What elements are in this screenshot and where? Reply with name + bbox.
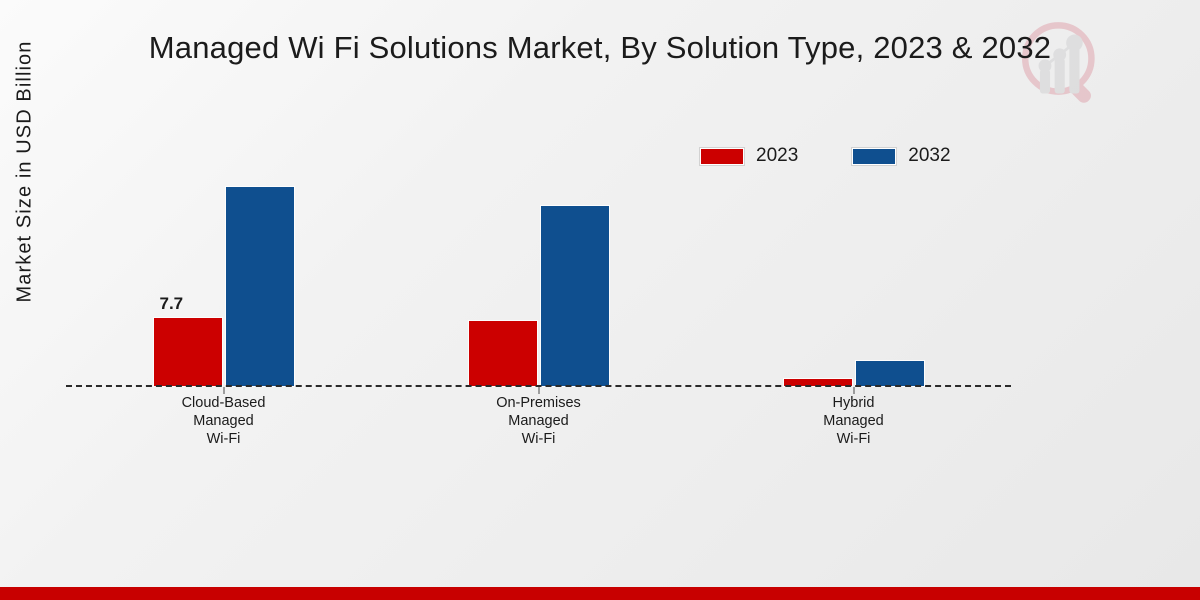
x-axis-baseline	[66, 385, 1011, 387]
bar-2032-cloud-based[interactable]	[225, 186, 295, 387]
bar-2032-on-premises[interactable]	[540, 205, 610, 387]
bar-group-hybrid	[696, 170, 1011, 387]
label-line: On-Premises	[381, 394, 696, 412]
bar-pair: 7.7	[153, 186, 295, 387]
legend-item-2032[interactable]: 2032	[852, 145, 950, 167]
bar-2032-hybrid[interactable]	[855, 360, 925, 387]
bar-group-cloud-based: 7.7	[66, 170, 381, 387]
label-line: Wi-Fi	[696, 430, 1011, 448]
label-line: Cloud-Based	[66, 394, 381, 412]
y-axis-title: Market Size in USD Billion	[14, 7, 37, 337]
legend-label-2023: 2023	[756, 145, 798, 167]
label-line: Managed	[381, 412, 696, 430]
label-line: Hybrid	[696, 394, 1011, 412]
legend-swatch-2023	[700, 148, 744, 165]
bar-group-on-premises	[381, 170, 696, 387]
axis-tick	[853, 387, 854, 394]
bar-value-label: 7.7	[160, 294, 184, 314]
plot-area: 7.7	[66, 170, 1011, 387]
bar-pair	[783, 360, 925, 387]
bar-pair	[468, 205, 610, 387]
label-line: Managed	[696, 412, 1011, 430]
x-axis-label-hybrid: Hybrid Managed Wi-Fi	[696, 394, 1011, 448]
bar-2023-on-premises[interactable]	[468, 320, 538, 387]
legend-item-2023[interactable]: 2023	[700, 145, 798, 167]
chart-legend: 2023 2032	[700, 145, 951, 167]
bar-groups: 7.7	[66, 170, 1011, 387]
x-axis-label-cloud-based: Cloud-Based Managed Wi-Fi	[66, 394, 381, 448]
footer-accent-band	[0, 587, 1200, 600]
label-line: Managed	[66, 412, 381, 430]
label-line: Wi-Fi	[381, 430, 696, 448]
bar-2023-cloud-based[interactable]: 7.7	[153, 317, 223, 387]
legend-label-2032: 2032	[908, 145, 950, 167]
x-axis-label-on-premises: On-Premises Managed Wi-Fi	[381, 394, 696, 448]
axis-tick	[538, 387, 539, 394]
axis-tick	[223, 387, 224, 394]
label-line: Wi-Fi	[66, 430, 381, 448]
legend-swatch-2032	[852, 148, 896, 165]
chart-title: Managed Wi Fi Solutions Market, By Solut…	[0, 30, 1200, 66]
x-axis-labels: Cloud-Based Managed Wi-Fi On-Premises Ma…	[66, 394, 1011, 448]
